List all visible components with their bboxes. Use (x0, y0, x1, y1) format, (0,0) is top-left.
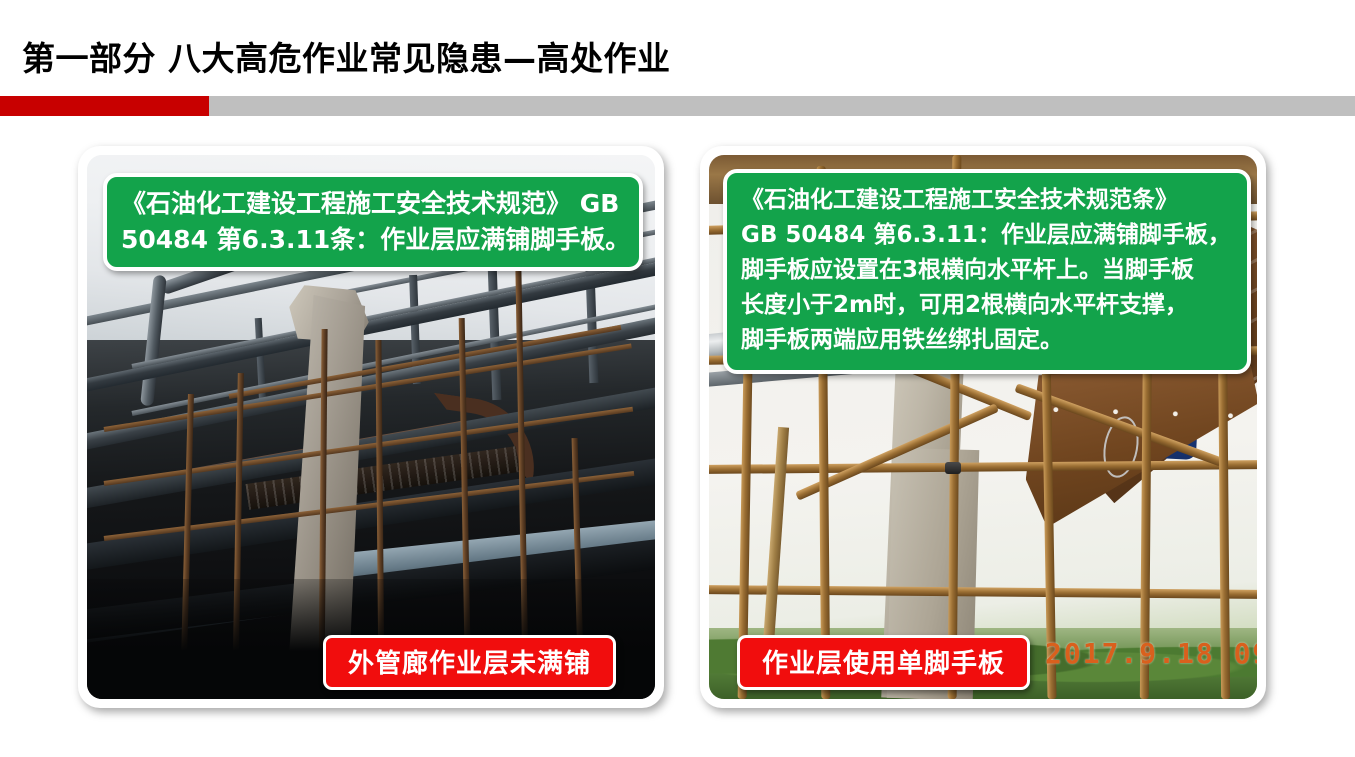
spec-line: GB 50484 第6.3.11：作业层应满铺脚手板， (741, 218, 1235, 253)
spec-line: 长度小于2m时，可用2根横向水平杆支撑， (741, 288, 1235, 323)
header-rule-red (0, 96, 209, 116)
spec-line: 50484 第6.3.11条：作业层应满铺脚手板。 (121, 222, 627, 258)
scaffold-coupler (945, 462, 961, 474)
photo-timestamp: 2017.9.18 09:45 (1045, 637, 1257, 670)
spec-line: 脚手板两端应用铁丝绑扎固定。 (741, 323, 1235, 358)
spec-callout-left: 《石油化工建设工程施工安全技术规范》 GB 50484 第6.3.11条：作业层… (103, 173, 643, 271)
spec-line: 《石油化工建设工程施工安全技术规范条》 (741, 183, 1235, 218)
photo-caption-left: 外管廊作业层未满铺 (323, 635, 616, 690)
spec-callout-right: 《石油化工建设工程施工安全技术规范条》 GB 50484 第6.3.11：作业层… (723, 169, 1251, 374)
slide-root: 第一部分 八大高危作业常见隐患—高处作业 (0, 0, 1355, 757)
photo-card-left[interactable]: 《石油化工建设工程施工安全技术规范》 GB 50484 第6.3.11条：作业层… (78, 146, 664, 708)
spec-line: 《石油化工建设工程施工安全技术规范》 GB (121, 186, 627, 222)
photo-caption-right: 作业层使用单脚手板 (737, 635, 1030, 690)
page-title: 第一部分 八大高危作业常见隐患—高处作业 (22, 32, 671, 80)
spec-line: 脚手板应设置在3根横向水平杆上。当脚手板 (741, 253, 1235, 288)
photo-left: 《石油化工建设工程施工安全技术规范》 GB 50484 第6.3.11条：作业层… (87, 155, 655, 699)
photo-card-right[interactable]: 《石油化工建设工程施工安全技术规范条》 GB 50484 第6.3.11：作业层… (700, 146, 1266, 708)
photo-right: 《石油化工建设工程施工安全技术规范条》 GB 50484 第6.3.11：作业层… (709, 155, 1257, 699)
header-rule-gray (209, 96, 1355, 116)
